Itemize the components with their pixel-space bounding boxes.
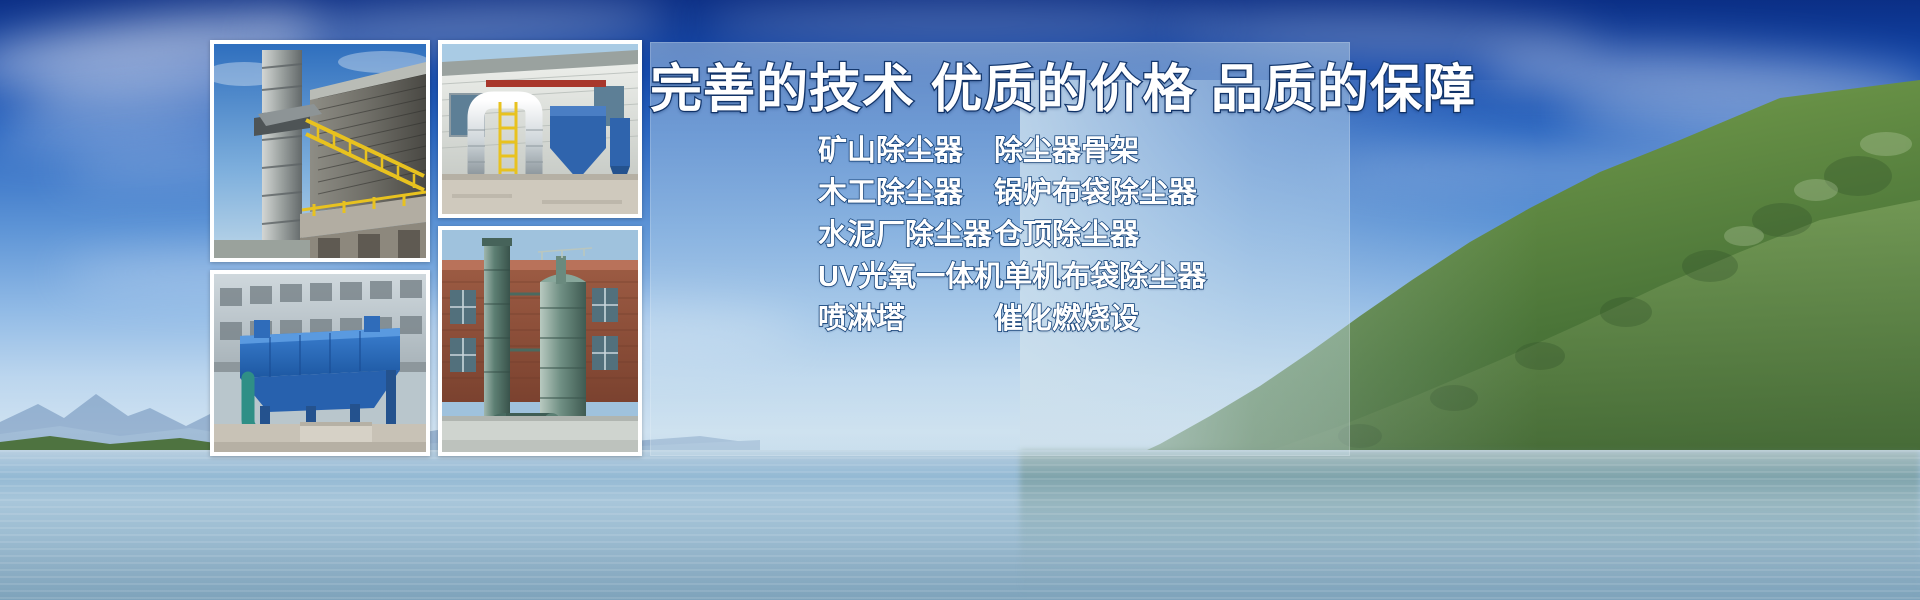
water-ripples bbox=[0, 450, 1920, 600]
list-item: 水泥厂除尘器 仓顶除尘器 bbox=[650, 214, 1350, 256]
product-name-right: 单机布袋除尘器 bbox=[1003, 256, 1206, 298]
photo-gallery bbox=[210, 40, 642, 456]
product-name-right: 催化燃烧设 bbox=[994, 298, 1139, 340]
product-name-left: UV光氧一体机 bbox=[818, 256, 1003, 298]
photo-baghouse-stack[interactable] bbox=[210, 40, 430, 262]
page-title: 完善的技术 优质的价格 品质的保障 bbox=[650, 60, 1350, 120]
photo-workshop-ducting[interactable] bbox=[438, 40, 642, 218]
list-item: 木工除尘器 锅炉布袋除尘器 bbox=[650, 172, 1350, 214]
product-name-left: 木工除尘器 bbox=[818, 172, 994, 214]
product-name-left: 水泥厂除尘器 bbox=[818, 214, 994, 256]
product-name-right: 仓顶除尘器 bbox=[994, 214, 1139, 256]
cloud-shape bbox=[700, 4, 1220, 44]
list-item: 喷淋塔 催化燃烧设 bbox=[650, 298, 1350, 340]
list-item: 矿山除尘器 除尘器骨架 bbox=[650, 130, 1350, 172]
product-list: 矿山除尘器 除尘器骨架 木工除尘器 锅炉布袋除尘器 水泥厂除尘器 仓顶除尘器 U… bbox=[650, 130, 1350, 340]
photo-scrubber-towers[interactable] bbox=[438, 226, 642, 456]
product-name-right: 除尘器骨架 bbox=[994, 130, 1139, 172]
promo-banner: 完善的技术 优质的价格 品质的保障 矿山除尘器 除尘器骨架 木工除尘器 锅炉布袋… bbox=[0, 0, 1920, 600]
product-name-right: 锅炉布袋除尘器 bbox=[994, 172, 1197, 214]
product-name-left: 喷淋塔 bbox=[818, 298, 994, 340]
product-name-left: 矿山除尘器 bbox=[818, 130, 994, 172]
photo-blue-dust-collector[interactable] bbox=[210, 270, 430, 456]
list-item: UV光氧一体机 单机布袋除尘器 bbox=[650, 256, 1350, 298]
